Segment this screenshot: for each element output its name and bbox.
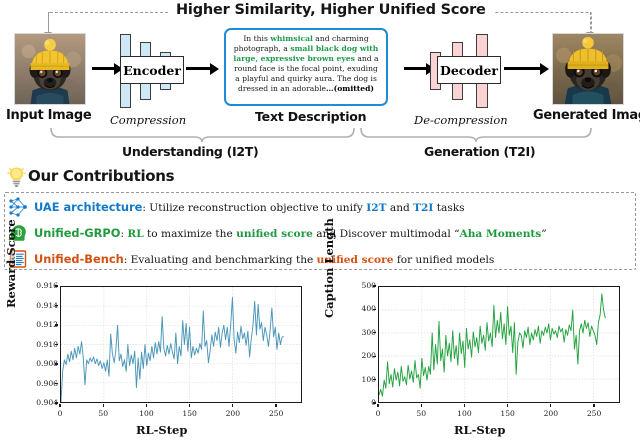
chart-1-plot-area (378, 286, 620, 403)
chart-0-xlabel: RL-Step (136, 423, 187, 437)
chart-0-yticks: 0.9040.9060.9080.9100.9120.9140.916 (8, 286, 58, 403)
chart-0-ytick-mark (55, 383, 58, 384)
chart-0-ytick-label: 0.906 (12, 379, 58, 388)
contribution-item-uae: UAE architecture: Utilize reconstruction… (8, 194, 465, 220)
chart-0-xticks: 050100150200250 (60, 405, 302, 419)
chart-1-xtick-label: 50 (406, 409, 436, 418)
brace-generation-icon (360, 128, 592, 142)
chart-1-xtick-mark (593, 404, 594, 407)
chart-0-ytick-label: 0.914 (12, 301, 58, 310)
chart-0-xtick-label: 100 (131, 409, 161, 418)
chart-1-xtick-label: 0 (363, 409, 393, 418)
contributions-heading: Our Contributions (28, 167, 174, 185)
chart-reward-score: Reward Score 0.9040.9060.9080.9100.9120.… (8, 278, 318, 445)
chart-0-xtick-label: 50 (88, 409, 118, 418)
decompression-label: De-compression (414, 113, 508, 127)
contribution-text-grpo: Unified-GRPO: RL to maximize the unified… (34, 226, 547, 240)
chart-0-ytick-mark (55, 402, 58, 403)
chart-1-ytick-mark (373, 309, 376, 310)
chart-1-ytick-mark (373, 379, 376, 380)
chart-0-ytick-label: 0.912 (12, 320, 58, 329)
network-graph-icon (8, 197, 28, 217)
brace-understanding-icon (50, 128, 355, 142)
arrow-input-to-encoder-icon (92, 67, 116, 70)
chart-1-xtick-mark (421, 404, 422, 407)
input-image (14, 33, 86, 105)
pug-photo-generated-icon (553, 34, 623, 104)
generated-image (552, 33, 624, 105)
chart-1-xtick-mark (464, 404, 465, 407)
chart-0-ytick-label: 0.916 (12, 281, 58, 290)
chart-0-ytick-label: 0.910 (12, 340, 58, 349)
chart-0-ytick-label: 0.908 (12, 359, 58, 368)
banner-title: Higher Similarity, Higher Unified Score (168, 2, 494, 18)
group-label-understanding: Understanding (I2T) (122, 144, 258, 159)
pipeline-diagram: Higher Similarity, Higher Unified Score (0, 0, 640, 165)
chart-1-ytick-mark (373, 332, 376, 333)
chart-1-xtick-mark (550, 404, 551, 407)
input-image-label: Input Image (6, 108, 91, 123)
chart-1-ytick-mark (373, 402, 376, 403)
chart-1-ytick-label: 100 (330, 375, 376, 384)
chart-1-xtick-label: 250 (579, 409, 609, 418)
chart-0-xtick-mark (59, 404, 60, 407)
decoder-label: Decoder (437, 56, 501, 84)
decoder-block: Decoder (428, 34, 508, 108)
chart-1-ytick-label: 0 (330, 398, 376, 407)
feedback-line-left (48, 12, 49, 34)
feedback-line-right (590, 12, 591, 34)
encoder-label: Encoder (120, 56, 184, 84)
chart-0-ytick-mark (55, 344, 58, 345)
chart-0-ytick-mark (55, 305, 58, 306)
chart-1-xtick-label: 150 (493, 409, 523, 418)
chart-0-ytick-label: 0.904 (12, 398, 58, 407)
arrow-encoder-to-text-icon (186, 67, 212, 70)
chart-1-xlabel: RL-Step (454, 423, 505, 437)
chart-0-line-svg (61, 287, 301, 402)
text-description-box: In this whimsical and charming photograp… (224, 28, 388, 106)
chart-1-ytick-label: 400 (330, 304, 376, 313)
chart-1-line-svg (379, 287, 619, 402)
chart-1-ytick-label: 300 (330, 328, 376, 337)
chart-0-xtick-label: 200 (218, 409, 248, 418)
chart-1-xtick-label: 200 (536, 409, 566, 418)
contribution-text-uae: UAE architecture: Utilize reconstruction… (34, 200, 465, 214)
chart-0-xtick-mark (146, 404, 147, 407)
chart-1-xticks: 050100150200250 (378, 405, 620, 419)
group-label-generation: Generation (T2I) (424, 144, 535, 159)
chart-0-xtick-mark (232, 404, 233, 407)
chart-1-xtick-label: 100 (449, 409, 479, 418)
chart-0-xtick-mark (103, 404, 104, 407)
encoder-block: Encoder (116, 34, 188, 108)
lightbulb-icon (7, 166, 26, 187)
arrow-text-to-decoder-icon (404, 67, 428, 70)
chart-1-ytick-label: 200 (330, 351, 376, 360)
chart-0-ytick-mark (55, 324, 58, 325)
chart-0-ytick-mark (55, 285, 58, 286)
chart-1-ytick-mark (373, 356, 376, 357)
chart-0-xtick-label: 0 (45, 409, 75, 418)
chart-1-ytick-mark (373, 285, 376, 286)
chart-1-yticks: 0100200300400500 (326, 286, 376, 403)
chart-0-xtick-label: 250 (261, 409, 291, 418)
generated-image-label: Generated Image (533, 108, 640, 123)
chart-caption-length: Caption Length 0100200300400500 05010015… (326, 278, 636, 445)
chart-0-xtick-mark (189, 404, 190, 407)
chart-0-xtick-mark (275, 404, 276, 407)
chart-0-xtick-label: 150 (175, 409, 205, 418)
text-description-label: Text Description (255, 109, 366, 124)
text-description-content: In this whimsical and charming photograp… (233, 34, 378, 93)
contribution-item-bench: Unified-Bench: Evaluating and benchmarki… (8, 246, 494, 272)
contribution-item-grpo: Unified-GRPO: RL to maximize the unified… (8, 220, 547, 246)
arrow-decoder-to-output-icon (504, 67, 542, 70)
compression-label: Compression (110, 113, 186, 127)
contribution-text-bench: Unified-Bench: Evaluating and benchmarki… (34, 252, 494, 266)
chart-1-ytick-label: 500 (330, 281, 376, 290)
pug-photo-input-icon (15, 34, 85, 104)
chart-0-plot-area (60, 286, 302, 403)
chart-1-xtick-mark (507, 404, 508, 407)
chart-0-ytick-mark (55, 363, 58, 364)
chart-1-xtick-mark (377, 404, 378, 407)
